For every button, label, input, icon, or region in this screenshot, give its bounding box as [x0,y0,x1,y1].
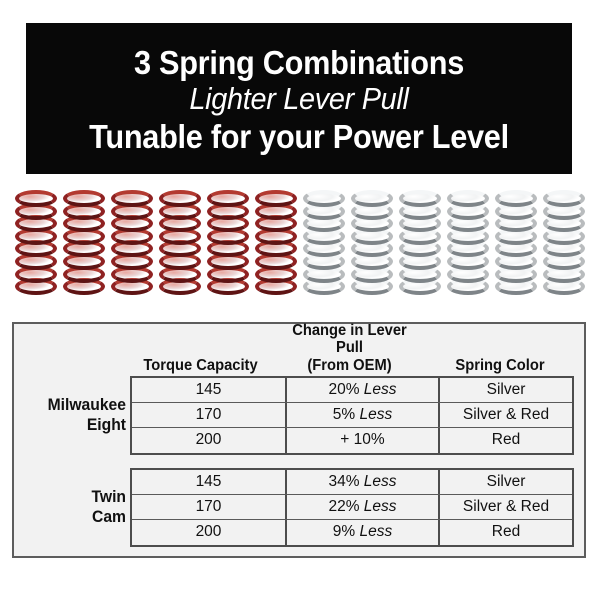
spring-coil [15,190,57,207]
banner-headline-primary: 3 Spring Combinations [45,46,553,80]
banner-headline-secondary: Tunable for your Power Level [45,120,553,154]
change-qualifier: Less [364,498,397,516]
table-group-grid: 14534% LessSilver17022% LessSilver & Red… [130,468,574,547]
spring-coil [255,190,297,207]
cell-change-in-lever-pull: 22% Less [287,495,440,519]
spring-red [254,190,298,298]
group-label-line2: Cam [92,508,126,527]
group-label-line2: Eight [87,416,126,435]
cell-torque-capacity: 200 [132,428,287,453]
spring-coil [399,190,441,207]
spring-coil [207,190,249,207]
table-row: 1705% LessSilver & Red [132,403,572,428]
spring-coil [111,190,153,207]
change-qualifier: Less [359,523,392,541]
change-value: 5% [333,406,360,424]
cell-change-in-lever-pull: 34% Less [287,470,440,494]
cell-torque-capacity: 145 [132,378,287,402]
cell-change-in-lever-pull: + 10% [287,428,440,453]
table-row: 17022% LessSilver & Red [132,495,572,520]
cell-change-in-lever-pull: 20% Less [287,378,440,402]
cell-spring-color: Silver [440,378,572,402]
change-value: 20% [328,381,363,399]
header-banner: 3 Spring Combinations Lighter Lever Pull… [26,23,572,174]
spring-coil [303,190,345,207]
change-value: 9% [333,523,360,541]
cell-change-in-lever-pull: 5% Less [287,403,440,427]
group-label-twin-cam: Twin Cam [23,468,126,547]
table-header-row: Torque Capacity Change in Lever Pull (Fr… [14,324,584,376]
group-label-line1: Twin [91,488,126,507]
spring-coil [447,190,489,207]
spring-red [14,190,58,298]
cell-torque-capacity: 170 [132,403,287,427]
table-group-twin-cam: Twin Cam 14534% LessSilver17022% LessSil… [14,468,584,547]
cell-spring-color: Silver [440,470,572,494]
table-row: 14534% LessSilver [132,470,572,495]
column-header-change-line1: Change in Lever Pull [277,322,422,357]
spring-image-strip [14,186,586,298]
spring-red [110,190,154,298]
cell-torque-capacity: 200 [132,520,287,545]
change-value: 22% [328,498,363,516]
banner-headline-italic: Lighter Lever Pull [45,83,553,115]
table-row: 200+ 10%Red [132,428,572,453]
spring-silver [542,190,586,298]
table-group-milwaukee-eight: Milwaukee Eight 14520% LessSilver1705% L… [14,376,584,455]
spring-silver [446,190,490,298]
spring-red [62,190,106,298]
change-qualifier: Less [364,473,397,491]
cell-spring-color: Silver & Red [440,403,572,427]
spring-spec-table: Torque Capacity Change in Lever Pull (Fr… [12,322,586,558]
column-header-spring-color: Spring Color [430,357,571,374]
table-group-grid: 14520% LessSilver1705% LessSilver & Red2… [130,376,574,455]
column-header-torque-capacity: Torque Capacity [132,357,270,374]
cell-torque-capacity: 170 [132,495,287,519]
table-row: 14520% LessSilver [132,378,572,403]
table-row: 2009% LessRed [132,520,572,545]
spring-coil [63,190,105,207]
column-header-change-in-lever-pull: Change in Lever Pull (From OEM) [277,322,422,374]
spring-coil [351,190,393,207]
cell-change-in-lever-pull: 9% Less [287,520,440,545]
change-qualifier: Less [359,406,392,424]
spring-coil [543,190,585,207]
spring-red [206,190,250,298]
spring-red [158,190,202,298]
cell-spring-color: Red [440,428,572,453]
spring-silver [350,190,394,298]
cell-spring-color: Silver & Red [440,495,572,519]
spring-coil [495,190,537,207]
group-label-milwaukee-eight: Milwaukee Eight [23,376,126,455]
spring-coil [159,190,201,207]
spring-silver [494,190,538,298]
group-label-line1: Milwaukee [48,396,126,415]
change-value: 34% [328,473,363,491]
column-header-change-line2: (From OEM) [277,357,422,374]
spring-silver [302,190,346,298]
cell-torque-capacity: 145 [132,470,287,494]
spring-silver [398,190,442,298]
change-qualifier: Less [364,381,397,399]
cell-spring-color: Red [440,520,572,545]
